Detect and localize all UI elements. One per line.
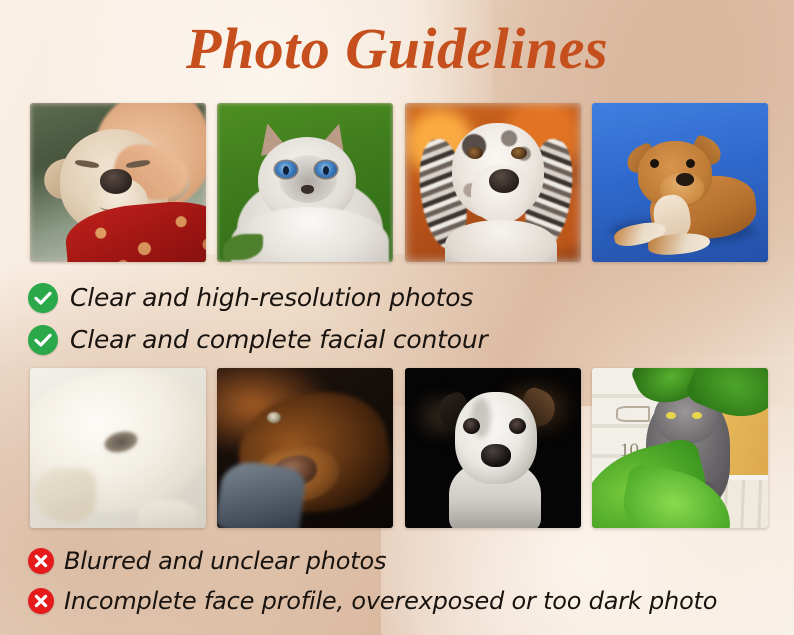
photo-thumbnail-bad-2[interactable]: dark blurry close-up of brown and black … [217, 368, 393, 528]
guideline-text-bad-1: Blurred and unclear photos [64, 547, 386, 575]
guideline-item-good-1: Clear and high-resolution photos [28, 279, 488, 317]
good-examples-photo-row: tan dog with closed eyes wearing red pai… [30, 103, 768, 262]
photo-thumbnail-good-3[interactable]: english setter with speckled coat on ora… [405, 103, 581, 262]
photo-thumbnail-good-2[interactable]: ragdoll cat with blue eyes on green gras… [217, 103, 393, 262]
check-circle-icon [28, 283, 58, 313]
guideline-text-bad-2: Incomplete face profile, overexposed or … [64, 587, 717, 615]
photo-thumbnail-good-1[interactable]: tan dog with closed eyes wearing red pai… [30, 103, 206, 262]
guideline-item-bad-2: Incomplete face profile, overexposed or … [28, 583, 717, 619]
guideline-item-bad-1: Blurred and unclear photos [28, 543, 717, 579]
guideline-item-good-2: Clear and complete facial contour [28, 321, 488, 359]
photo-thumbnail-bad-4[interactable]: 10 grey persian cat obscured by green le… [592, 368, 768, 528]
guideline-text-good-1: Clear and high-resolution photos [70, 283, 473, 313]
photo-thumbnail-bad-3[interactable]: white jack russell terrier on very dark … [405, 368, 581, 528]
bad-guidelines-list: Blurred and unclear photos Incomplete fa… [28, 543, 717, 623]
cross-circle-icon [28, 548, 54, 574]
cross-circle-icon [28, 588, 54, 614]
photo-thumbnail-bad-1[interactable]: overexposed blurry close-up of white dog… [30, 368, 206, 528]
bad-examples-photo-row: overexposed blurry close-up of white dog… [30, 368, 768, 528]
photo-thumbnail-good-4[interactable]: fawn staffordshire puppy lying on blue s… [592, 103, 768, 262]
page-title: Photo Guidelines [0, 14, 794, 84]
guideline-text-good-2: Clear and complete facial contour [70, 325, 488, 355]
good-guidelines-list: Clear and high-resolution photos Clear a… [28, 279, 488, 363]
check-circle-icon [28, 325, 58, 355]
photo-guidelines-infographic: Photo Guidelines tan do [0, 0, 794, 635]
